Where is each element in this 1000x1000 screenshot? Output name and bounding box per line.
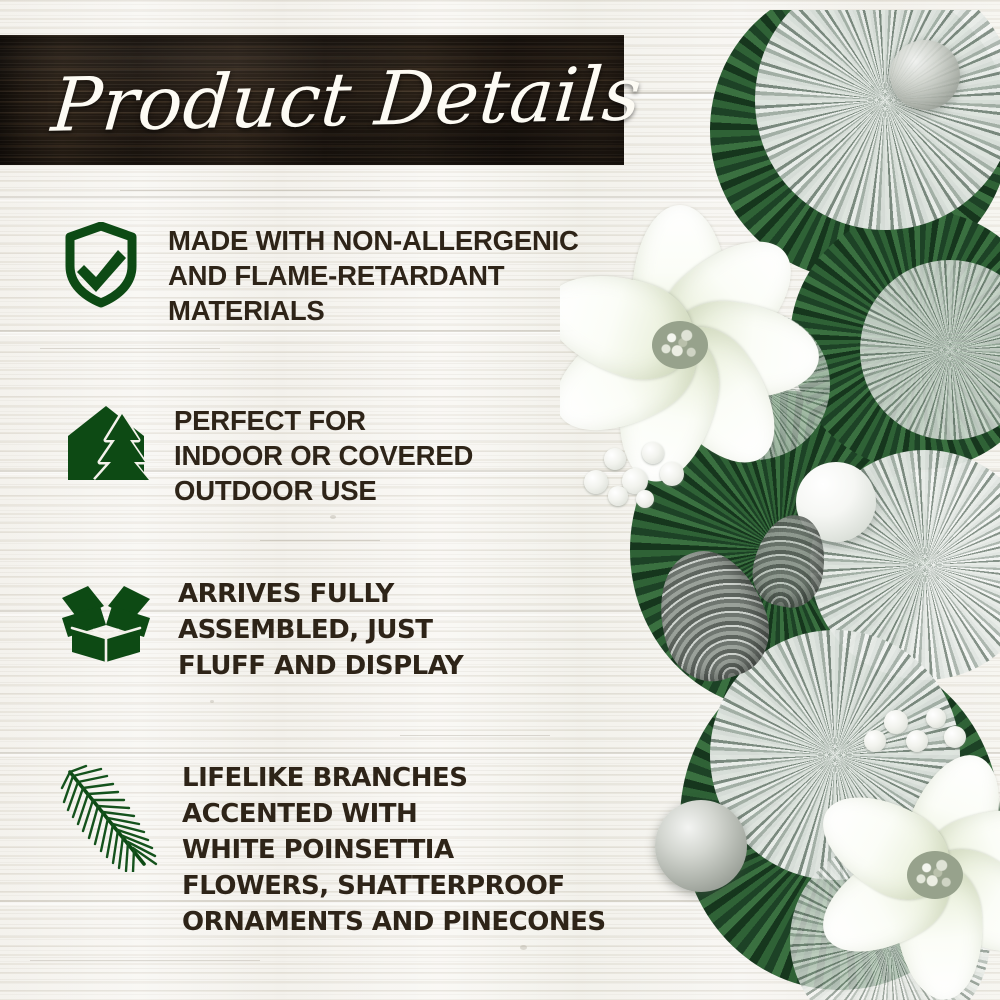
house-tree-icon bbox=[62, 400, 150, 489]
pine-branch-icon bbox=[56, 760, 160, 877]
header-banner: Product Details bbox=[0, 35, 624, 165]
page-title: Product Details bbox=[49, 57, 644, 142]
feature-item-assembly: ARRIVES FULLY ASSEMBLED, JUST FLUFF AND … bbox=[58, 578, 463, 684]
feature-text-materials: MADE WITH NON-ALLERGENIC AND FLAME-RETAR… bbox=[168, 223, 579, 328]
feature-item-branches: LIFELIKE BRANCHES ACCENTED WITH WHITE PO… bbox=[56, 760, 606, 940]
shield-check-icon bbox=[62, 222, 140, 313]
feature-item-materials: MADE WITH NON-ALLERGENIC AND FLAME-RETAR… bbox=[62, 222, 579, 328]
open-box-icon bbox=[58, 578, 154, 669]
product-details-infographic: Product Details MADE WITH NON-ALLERGENIC… bbox=[0, 0, 1000, 1000]
feature-text-branches: LIFELIKE BRANCHES ACCENTED WITH WHITE PO… bbox=[182, 760, 606, 940]
feature-text-usage: PERFECT FOR INDOOR OR COVERED OUTDOOR US… bbox=[174, 403, 473, 508]
feature-text-assembly: ARRIVES FULLY ASSEMBLED, JUST FLUFF AND … bbox=[178, 576, 463, 684]
feature-item-usage: PERFECT FOR INDOOR OR COVERED OUTDOOR US… bbox=[62, 400, 473, 508]
